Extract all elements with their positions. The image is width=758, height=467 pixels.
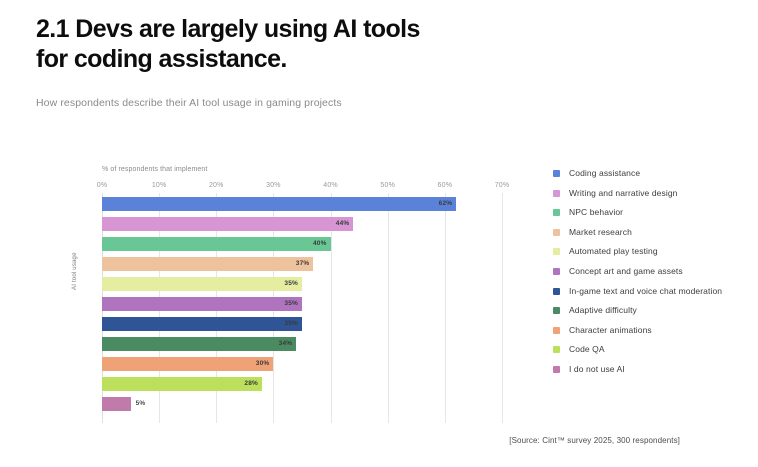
legend-item-label: Concept art and game assets (569, 266, 683, 277)
bar[interactable]: 35% (102, 297, 302, 311)
source-note: [Source: Cint™ survey 2025, 300 responde… (509, 436, 680, 445)
legend-swatch-icon (553, 170, 560, 177)
bar[interactable] (102, 397, 131, 411)
legend-item[interactable]: NPC behavior (553, 207, 743, 218)
bar[interactable]: 40% (102, 237, 331, 251)
x-tick-label: 20% (209, 182, 224, 189)
bar[interactable]: 37% (102, 257, 313, 271)
bar-row[interactable]: 34% (102, 334, 502, 354)
bar[interactable]: 62% (102, 197, 456, 211)
legend-swatch-icon (553, 327, 560, 334)
legend-item-label: Adaptive difficulty (569, 305, 637, 316)
page-subtitle: How respondents describe their AI tool u… (36, 74, 536, 110)
legend-swatch-icon (553, 248, 560, 255)
x-tick-label: 30% (266, 182, 281, 189)
bar-value-label: 44% (336, 220, 354, 227)
legend-item-label: Writing and narrative design (569, 188, 677, 199)
legend-item-label: Market research (569, 227, 632, 238)
x-tick-label: 40% (323, 182, 338, 189)
legend-item[interactable]: Market research (553, 227, 743, 238)
bar[interactable]: 28% (102, 377, 262, 391)
plot-area: 62%44%40%37%35%35%35%34%30%28%5% (102, 193, 502, 423)
legend-swatch-icon (553, 268, 560, 275)
bar[interactable]: 34% (102, 337, 296, 351)
bar-row[interactable]: 35% (102, 314, 502, 334)
bar-row[interactable]: 37% (102, 254, 502, 274)
legend-swatch-icon (553, 307, 560, 314)
chart-legend: Coding assistanceWriting and narrative d… (553, 168, 743, 384)
legend-item-label: NPC behavior (569, 207, 623, 218)
bar-row[interactable]: 44% (102, 214, 502, 234)
x-tick-label: 50% (380, 182, 395, 189)
bar-value-label: 35% (284, 300, 302, 307)
bar-value-label: 5% (131, 400, 146, 407)
y-axis-title: AI tool usage (72, 276, 78, 290)
bar-row[interactable]: 40% (102, 234, 502, 254)
legend-item-label: In-game text and voice chat moderation (569, 286, 722, 297)
x-tick-label: 0% (97, 182, 108, 189)
bar[interactable]: 35% (102, 277, 302, 291)
legend-item[interactable]: Automated play testing (553, 246, 743, 257)
legend-item-label: Automated play testing (569, 246, 658, 257)
legend-item[interactable]: Concept art and game assets (553, 266, 743, 277)
bar-series: 62%44%40%37%35%35%35%34%30%28%5% (102, 193, 502, 423)
legend-item[interactable]: In-game text and voice chat moderation (553, 286, 743, 297)
legend-item-label: Coding assistance (569, 168, 640, 179)
bar[interactable]: 30% (102, 357, 273, 371)
bar-row[interactable]: 30% (102, 354, 502, 374)
legend-swatch-icon (553, 209, 560, 216)
legend-item[interactable]: Code QA (553, 344, 743, 355)
page-title: 2.1 Devs are largely using AI tools for … (36, 14, 536, 74)
bar-value-label: 34% (279, 340, 297, 347)
slide-header: 2.1 Devs are largely using AI tools for … (36, 14, 536, 110)
bar-value-label: 40% (313, 240, 331, 247)
legend-item[interactable]: I do not use AI (553, 364, 743, 375)
bar-row[interactable]: 35% (102, 294, 502, 314)
legend-swatch-icon (553, 229, 560, 236)
x-tick-label: 10% (152, 182, 167, 189)
bar-value-label: 35% (284, 280, 302, 287)
legend-swatch-icon (553, 288, 560, 295)
legend-item-label: I do not use AI (569, 364, 625, 375)
legend-item-label: Character animations (569, 325, 652, 336)
x-axis-title: % of respondents that implement (102, 166, 207, 173)
bar-value-label: 30% (256, 360, 274, 367)
bar-value-label: 37% (296, 260, 314, 267)
bar-row[interactable]: 5% (102, 394, 502, 414)
legend-item-label: Code QA (569, 344, 605, 355)
bar-row[interactable]: 35% (102, 274, 502, 294)
bar-row[interactable]: 62% (102, 194, 502, 214)
bar-row[interactable]: 28% (102, 374, 502, 394)
legend-item[interactable]: Character animations (553, 325, 743, 336)
bar-value-label: 28% (244, 380, 262, 387)
bar[interactable]: 44% (102, 217, 353, 231)
legend-swatch-icon (553, 346, 560, 353)
legend-item[interactable]: Adaptive difficulty (553, 305, 743, 316)
x-tick-label: 70% (495, 182, 510, 189)
legend-swatch-icon (553, 190, 560, 197)
legend-item[interactable]: Writing and narrative design (553, 188, 743, 199)
bar-value-label: 35% (284, 320, 302, 327)
x-tick-label: 60% (438, 182, 453, 189)
legend-swatch-icon (553, 366, 560, 373)
legend-item[interactable]: Coding assistance (553, 168, 743, 179)
bar-value-label: 62% (439, 200, 457, 207)
bar[interactable]: 35% (102, 317, 302, 331)
